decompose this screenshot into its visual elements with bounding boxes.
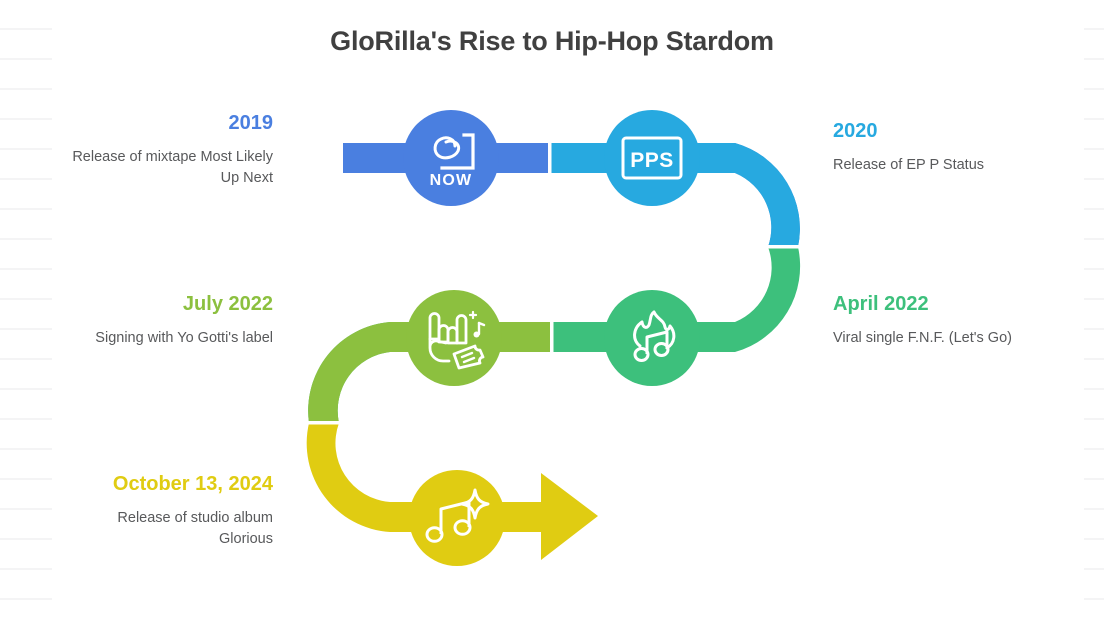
svg-text:NOW: NOW (430, 172, 473, 189)
svg-text:PPS: PPS (630, 149, 674, 172)
milestone-entry-2020: 2020 Release of EP P Status (833, 120, 1048, 176)
milestone-date-july2022: July 2022 (63, 293, 273, 316)
rock-hand-ticket-icon (421, 306, 487, 370)
milestone-date-april2022: April 2022 (833, 293, 1035, 316)
milestone-entry-2019: 2019 Release of mixtape Most Likely Up N… (63, 112, 273, 189)
pps-badge-icon: PPS (621, 136, 683, 180)
now-swirl-icon: NOW (420, 128, 482, 188)
ribbon-seam-3 (766, 245, 800, 249)
milestone-description-oct2024: Release of studio album Glorious (63, 508, 273, 550)
music-notes-sparkle-icon (425, 487, 489, 549)
milestone-description-2019: Release of mixtape Most Likely Up Next (63, 147, 273, 189)
milestone-date-oct2024: October 13, 2024 (63, 473, 273, 496)
milestone-node-2020[interactable]: PPS (604, 110, 700, 206)
milestone-description-july2022: Signing with Yo Gotti's label (63, 328, 273, 349)
milestone-date-2020: 2020 (833, 120, 1048, 143)
milestone-description-2020: Release of EP P Status (833, 155, 1048, 176)
ribbon-seam-4 (307, 421, 341, 425)
milestone-node-2019[interactable]: NOW (403, 110, 499, 206)
milestone-node-oct2024[interactable] (409, 470, 505, 566)
ribbon-seam-1 (548, 141, 552, 175)
milestone-node-july2022[interactable] (406, 290, 502, 386)
milestone-node-april2022[interactable] (604, 290, 700, 386)
flame-music-note-icon (620, 306, 684, 370)
ribbon-seam-2 (550, 320, 554, 354)
milestone-entry-oct2024: October 13, 2024 Release of studio album… (63, 473, 273, 550)
milestone-entry-july2022: July 2022 Signing with Yo Gotti's label (63, 293, 273, 349)
page-title: GloRilla's Rise to Hip-Hop Stardom (0, 26, 1104, 57)
milestone-date-2019: 2019 (63, 112, 273, 135)
milestone-description-april2022: Viral single F.N.F. (Let's Go) (833, 328, 1035, 349)
milestone-entry-april2022: April 2022 Viral single F.N.F. (Let's Go… (833, 293, 1035, 349)
